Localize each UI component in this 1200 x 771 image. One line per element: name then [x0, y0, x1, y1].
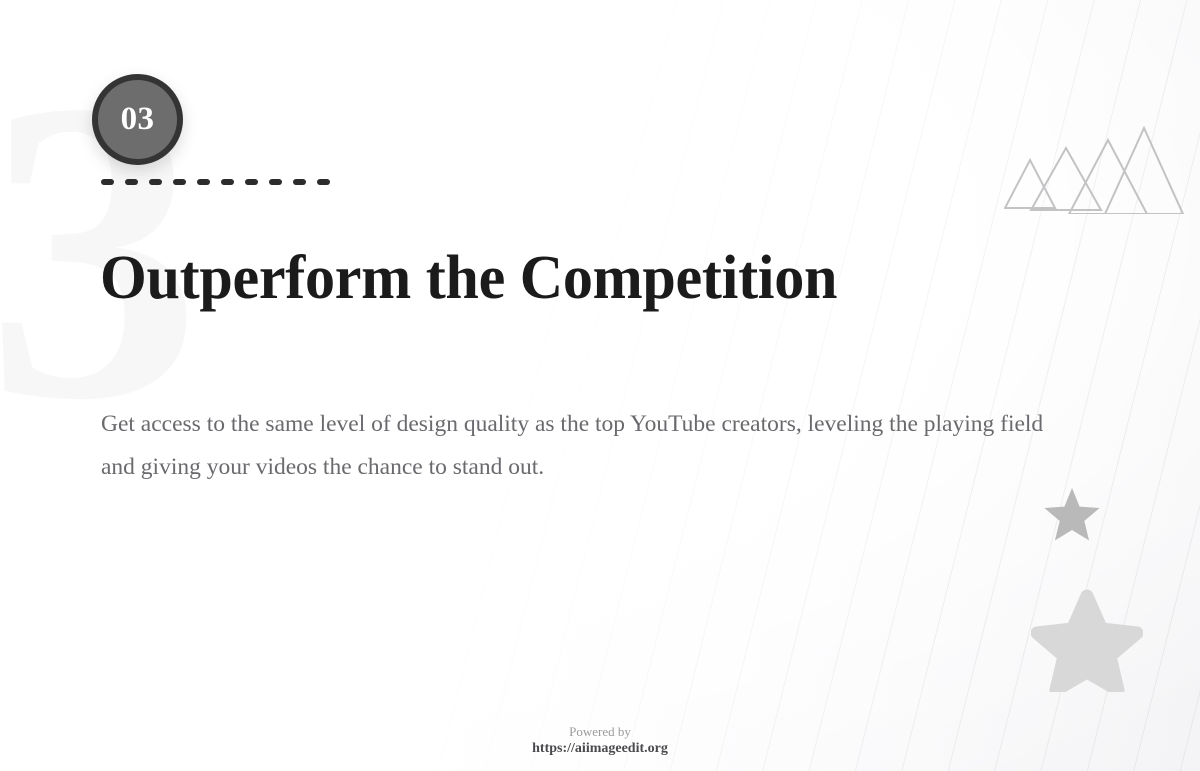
slide-body-text: Get access to the same level of design q… [101, 403, 1076, 489]
divider-dash [101, 179, 114, 185]
slide-number-badge: 03 [92, 74, 183, 165]
dashed-divider [101, 179, 330, 185]
divider-dash [197, 179, 210, 185]
divider-dash [149, 179, 162, 185]
divider-dash [221, 179, 234, 185]
star-icon [1031, 584, 1143, 692]
slide-canvas: 3 03 Outperform the Competition G [0, 0, 1200, 771]
slide-number-text: 03 [121, 103, 155, 136]
divider-dash [125, 179, 138, 185]
divider-dash [317, 179, 330, 185]
footer-watermark: Powered by https://aiimageedit.org [0, 724, 1200, 758]
powered-by-label: Powered by [0, 724, 1200, 740]
footer-url: https://aiimageedit.org [0, 740, 1200, 758]
star-icon [1043, 487, 1101, 542]
divider-dash [173, 179, 186, 185]
divider-dash [245, 179, 258, 185]
divider-dash [293, 179, 306, 185]
diagonal-stripes-pattern [380, 0, 1200, 771]
divider-dash [269, 179, 282, 185]
slide-title: Outperform the Competition [100, 245, 837, 312]
mountain-triangles-icon [1004, 126, 1184, 214]
